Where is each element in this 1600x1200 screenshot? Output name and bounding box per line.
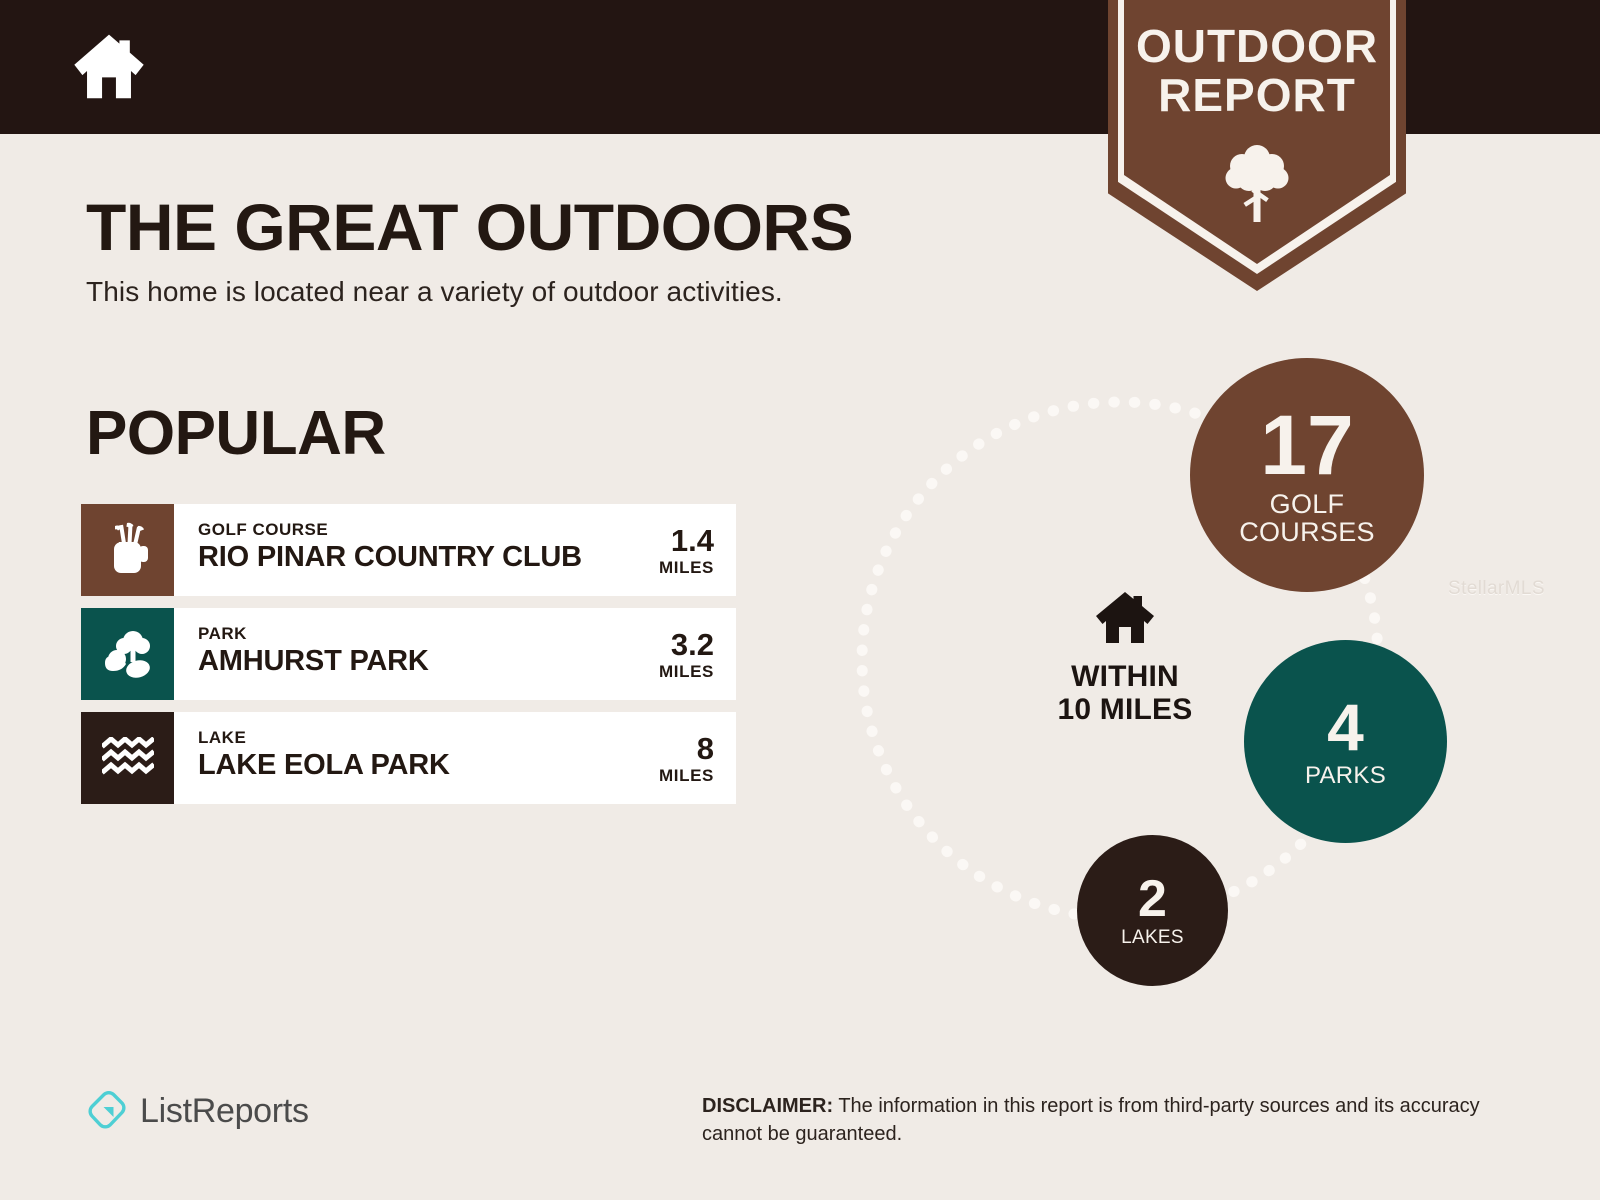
disclaimer-label: DISCLAIMER: (702, 1095, 833, 1117)
list-item-icon-tile (81, 504, 174, 596)
stat-bubble-lakes[interactable]: 2 LAKES (1077, 835, 1228, 986)
list-item-name: LAKE EOLA PARK (198, 748, 616, 782)
home-icon (72, 32, 146, 102)
listreports-house-icon (86, 1090, 128, 1132)
badge-title-line2: REPORT (1108, 71, 1406, 120)
list-item-distance-value: 8 (616, 732, 714, 765)
stat-count: 4 (1327, 694, 1364, 760)
within-10-miles-diagram: WITHIN 10 MILES 17 GOLF COURSES 4 PARKS … (820, 340, 1520, 1020)
home-icon (1095, 590, 1155, 646)
list-item-icon-tile (81, 712, 174, 804)
list-item-category: PARK (198, 624, 616, 644)
badge-title: OUTDOOR REPORT (1108, 22, 1406, 120)
stat-label-line2: COURSES (1239, 519, 1375, 547)
stat-label: PARKS (1305, 764, 1386, 788)
list-item-distance-unit: MILES (616, 557, 714, 578)
watermark: StellarMLS (1448, 578, 1545, 600)
list-item-distance-unit: MILES (616, 765, 714, 786)
diagram-center-line2: 10 MILES (1020, 693, 1230, 726)
badge-title-line1: OUTDOOR (1108, 22, 1406, 71)
stat-count: 2 (1138, 873, 1167, 925)
listreports-logo-text: ListReports (140, 1092, 309, 1131)
diagram-center: WITHIN 10 MILES (1020, 590, 1230, 726)
stat-label-line1: GOLF (1239, 491, 1375, 519)
list-item[interactable]: LAKE LAKE EOLA PARK 8 MILES (81, 712, 736, 804)
list-item-distance: 1.4 MILES (616, 504, 736, 596)
list-item-body: LAKE LAKE EOLA PARK (174, 712, 616, 804)
list-item-distance-unit: MILES (616, 661, 714, 682)
stat-count: 17 (1260, 403, 1353, 487)
stat-bubble-parks[interactable]: 4 PARKS (1244, 640, 1447, 843)
list-item-distance: 8 MILES (616, 712, 736, 804)
page-title: THE GREAT OUTDOORS (86, 189, 853, 265)
stat-label: GOLF COURSES (1239, 491, 1375, 546)
tree-icon (1218, 138, 1296, 224)
list-item[interactable]: PARK AMHURST PARK 3.2 MILES (81, 608, 736, 700)
page-subtitle: This home is located near a variety of o… (86, 276, 783, 308)
section-heading-popular: POPULAR (86, 398, 386, 469)
park-trees-icon (102, 628, 154, 680)
stat-bubble-golf-courses[interactable]: 17 GOLF COURSES (1190, 358, 1424, 592)
list-item-body: GOLF COURSE RIO PINAR COUNTRY CLUB (174, 504, 616, 596)
list-item-name: AMHURST PARK (198, 644, 616, 678)
list-item-distance-value: 1.4 (616, 524, 714, 557)
list-item-name: RIO PINAR COUNTRY CLUB (198, 540, 616, 574)
listreports-logo[interactable]: ListReports (86, 1090, 309, 1132)
diagram-center-line1: WITHIN (1020, 660, 1230, 693)
popular-list: GOLF COURSE RIO PINAR COUNTRY CLUB 1.4 M… (81, 504, 736, 816)
list-item[interactable]: GOLF COURSE RIO PINAR COUNTRY CLUB 1.4 M… (81, 504, 736, 596)
water-waves-icon (102, 737, 154, 779)
disclaimer: DISCLAIMER: The information in this repo… (702, 1092, 1502, 1148)
list-item-distance-value: 3.2 (616, 628, 714, 661)
outdoor-report-badge: OUTDOOR REPORT (1108, 0, 1406, 291)
list-item-category: GOLF COURSE (198, 520, 616, 540)
list-item-icon-tile (81, 608, 174, 700)
stat-label: LAKES (1121, 928, 1184, 947)
list-item-category: LAKE (198, 728, 616, 748)
golf-bag-icon (105, 522, 151, 578)
list-item-distance: 3.2 MILES (616, 608, 736, 700)
list-item-body: PARK AMHURST PARK (174, 608, 616, 700)
